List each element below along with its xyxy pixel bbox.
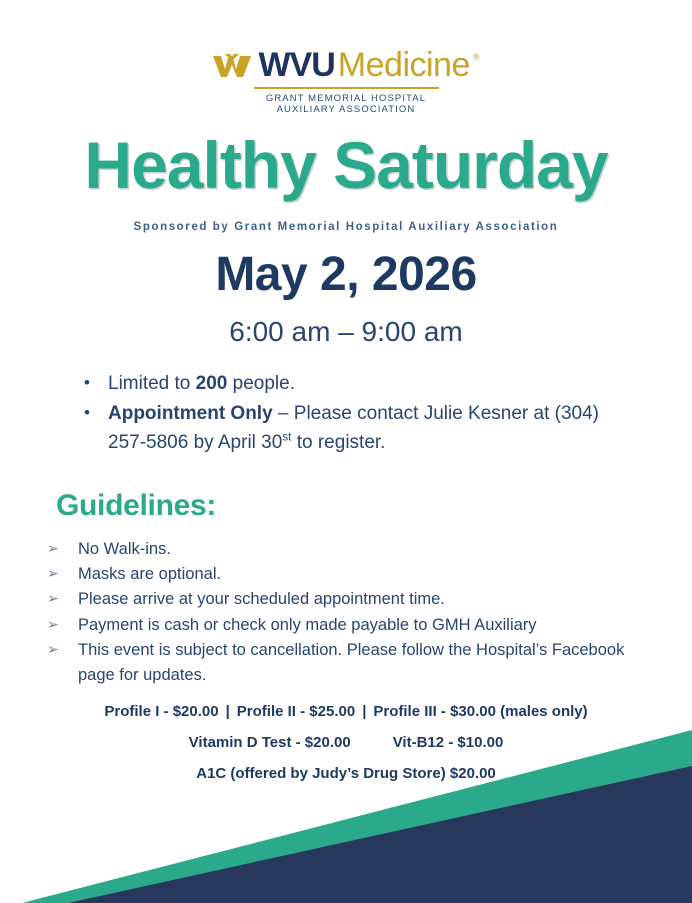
registered-mark-icon: ® xyxy=(473,53,480,62)
list-item-text: Payment is cash or check only made payab… xyxy=(78,613,644,638)
bullet-icon: • xyxy=(80,400,108,426)
price-profile-1: Profile I - $20.00 xyxy=(104,703,218,720)
bullet-text-pre: Limited to xyxy=(108,373,196,394)
price-separator: | xyxy=(219,701,237,723)
list-item: ➢ Masks are optional. xyxy=(44,562,644,587)
list-item: ➢ No Walk-ins. xyxy=(44,537,644,562)
page-title: Healthy Saturday xyxy=(0,131,692,200)
list-item-text: This event is subject to cancellation. P… xyxy=(78,638,644,688)
flying-wv-icon xyxy=(212,52,252,80)
list-item: • Appointment Only – Please contact Juli… xyxy=(80,400,640,458)
price-vitamin-d: Vitamin D Test - $20.00 xyxy=(189,734,351,751)
bullet-icon: • xyxy=(80,370,108,396)
list-item-text: Masks are optional. xyxy=(78,562,644,587)
list-item: ➢ Please arrive at your scheduled appoin… xyxy=(44,587,644,612)
price-profile-2: Profile II - $25.00 xyxy=(237,703,355,720)
arrow-bullet-icon: ➢ xyxy=(44,638,78,662)
list-item-text: Limited to 200 people. xyxy=(108,370,640,399)
list-item: ➢ This event is subject to cancellation.… xyxy=(44,638,644,688)
logo-subtitle-line-1: GRANT MEMORIAL HOSPITAL xyxy=(0,93,692,105)
pricing-block: Profile I - $20.00|Profile II - $25.00|P… xyxy=(0,701,692,784)
price-profile-3: Profile III - $30.00 (males only) xyxy=(373,703,587,720)
logo-wvu-text: WVU xyxy=(258,48,334,82)
navy-diagonal-band xyxy=(68,766,692,903)
logo-divider xyxy=(254,87,439,89)
bullet-text-emphasis: 200 xyxy=(196,373,228,394)
list-item: • Limited to 200 people. xyxy=(80,370,640,399)
guidelines-list: ➢ No Walk-ins. ➢ Masks are optional. ➢ P… xyxy=(44,537,644,688)
guidelines-heading: Guidelines: xyxy=(56,489,216,523)
list-item-text: Please arrive at your scheduled appointm… xyxy=(78,587,644,612)
list-item-text: No Walk-ins. xyxy=(78,537,644,562)
arrow-bullet-icon: ➢ xyxy=(44,587,78,611)
pricing-row-vitamins: Vitamin D Test - $20.00Vit-B12 - $10.00 xyxy=(0,732,692,754)
event-time: 6:00 am – 9:00 am xyxy=(0,316,692,348)
logo-wordmark: WVU Medicine ® xyxy=(0,48,692,82)
sponsor-line: Sponsored by Grant Memorial Hospital Aux… xyxy=(0,221,692,233)
list-item-text: Appointment Only – Please contact Julie … xyxy=(108,400,640,458)
arrow-bullet-icon: ➢ xyxy=(44,562,78,586)
logo-medicine-text: Medicine xyxy=(338,48,470,82)
arrow-bullet-icon: ➢ xyxy=(44,613,78,637)
bullet-text-emphasis: Appointment Only xyxy=(108,403,273,424)
event-date: May 2, 2026 xyxy=(0,247,692,302)
bullet-text-tail: to register. xyxy=(291,432,385,453)
price-vit-b12: Vit-B12 - $10.00 xyxy=(393,734,504,751)
price-separator: | xyxy=(355,701,373,723)
main-bullet-list: • Limited to 200 people. • Appointment O… xyxy=(80,370,640,459)
list-item: ➢ Payment is cash or check only made pay… xyxy=(44,613,644,638)
flyer-page: WVU Medicine ® GRANT MEMORIAL HOSPITAL A… xyxy=(0,0,692,903)
wvu-medicine-logo: WVU Medicine ® GRANT MEMORIAL HOSPITAL A… xyxy=(0,48,692,116)
logo-subtitle-line-2: AUXILIARY ASSOCIATION xyxy=(0,104,692,116)
pricing-row-a1c: A1C (offered by Judy’s Drug Store) $20.0… xyxy=(0,763,692,785)
bullet-text-post: people. xyxy=(227,373,295,394)
pricing-row-profiles: Profile I - $20.00|Profile II - $25.00|P… xyxy=(0,701,692,723)
arrow-bullet-icon: ➢ xyxy=(44,537,78,561)
